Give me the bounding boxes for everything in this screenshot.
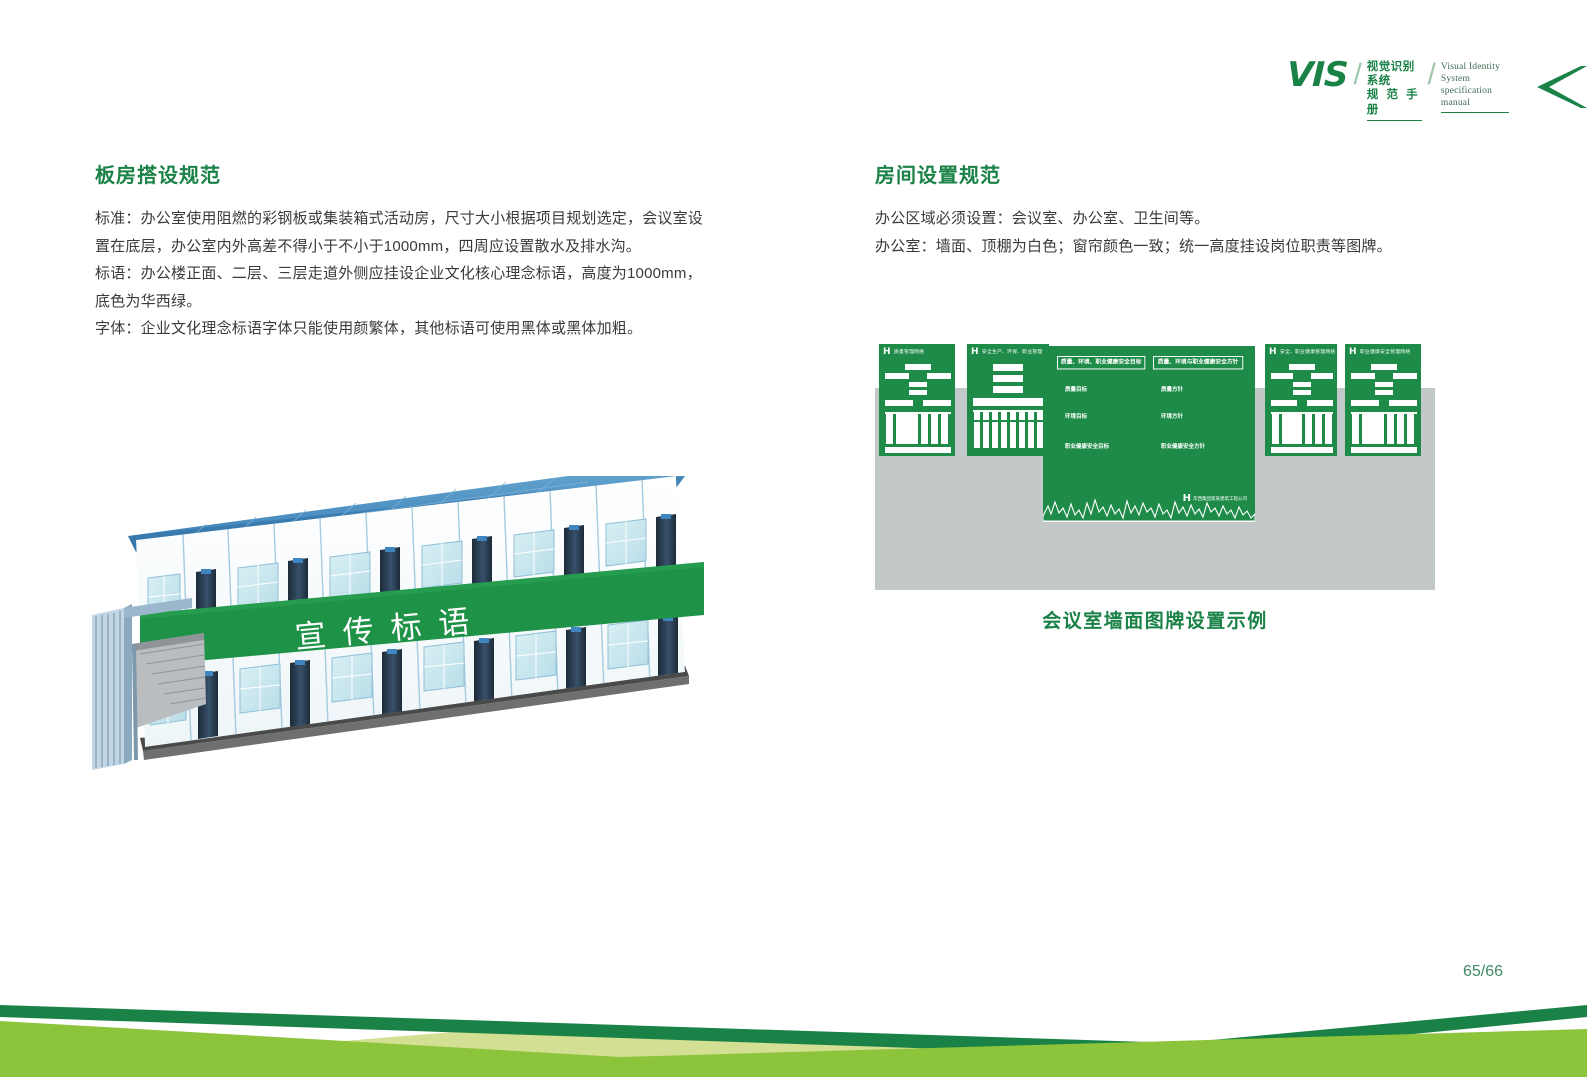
left-paragraph-slogan: 标语：办公楼正面、二层、三层走道外侧应挂设企业文化核心理念标语，高度为1000m… xyxy=(95,260,705,315)
board-goal-environment: 环境目标 xyxy=(1065,413,1149,421)
logo-divider-slash-1: / xyxy=(1353,58,1361,92)
right-paragraph-office: 办公室：墙面、顶棚为白色；窗帘颜色一致；统一高度挂设岗位职责等图牌。 xyxy=(875,233,1435,261)
company-mark-icon: H xyxy=(883,348,891,357)
meeting-room-wall-diagram: H 质量管理网络 H 安全生产、环保、职业管理体系 xyxy=(875,340,1435,590)
panel-4-header: H 安全、职业健康管理网络 xyxy=(1265,344,1337,359)
vis-en-line2: specification manual xyxy=(1441,85,1509,113)
board-goals-header: 质量、环境、职业健康安全目标 xyxy=(1057,356,1145,369)
panel-5-org-chart xyxy=(1349,362,1417,451)
sign-panel-safety-env-system: H 安全生产、环保、职业管理体系 xyxy=(967,344,1049,456)
board-policy-header: 质量、环境与职业健康安全方针 xyxy=(1153,356,1243,369)
vis-chinese-subtitle: 视觉识别系统 规 范 手 册 xyxy=(1367,58,1422,121)
page-header: VIS / 视觉识别系统 规 范 手 册 / Visual Identity S… xyxy=(1287,58,1587,114)
vis-en-line1: Visual Identity System xyxy=(1441,61,1509,85)
logo-divider-slash-2: / xyxy=(1428,58,1436,92)
board-column-goals: 质量、环境、职业健康安全目标 质量目标 环境目标 职业健康安全目标 xyxy=(1057,356,1149,451)
panel-1-org-chart xyxy=(883,362,951,451)
right-paragraph-areas: 办公区域必须设置：会议室、办公室、卫生间等。 xyxy=(875,205,1435,233)
vis-logo: VIS / 视觉识别系统 规 范 手 册 / Visual Identity S… xyxy=(1287,58,1509,104)
panel-2-header: H 安全生产、环保、职业管理体系 xyxy=(967,344,1049,359)
grass-graphic xyxy=(1043,494,1255,522)
vis-english-subtitle: Visual Identity System specification man… xyxy=(1441,58,1509,113)
right-section-body: 办公区域必须设置：会议室、办公室、卫生间等。 办公室：墙面、顶棚为白色；窗帘颜色… xyxy=(875,205,1435,260)
vis-cn-line2: 规 范 手 册 xyxy=(1367,88,1422,121)
sign-panel-safety-health-network: H 安全、职业健康管理网络 xyxy=(1265,344,1337,456)
panel-4-title: 安全、职业健康管理网络 xyxy=(1280,349,1335,356)
sign-panel-ohs-management-network: H 职业健康安全管理网络 xyxy=(1345,344,1421,456)
board-policy-ohs: 职业健康安全方针 xyxy=(1161,443,1247,451)
panel-2-title: 安全生产、环保、职业管理体系 xyxy=(982,349,1052,356)
company-mark-icon: H xyxy=(1269,348,1277,357)
sign-panel-quality-network: H 质量管理网络 xyxy=(879,344,955,456)
left-section-title: 板房搭设规范 xyxy=(95,159,221,188)
left-paragraph-font: 字体：企业文化理念标语字体只能使用颜繁体，其他标语可使用黑体或黑体加粗。 xyxy=(95,315,705,343)
panel-5-title: 职业健康安全管理网络 xyxy=(1360,349,1410,356)
left-paragraph-standard: 标准：办公室使用阻燃的彩钢板或集装箱式活动房，尺寸大小根据项目规划选定，会议室设… xyxy=(95,205,705,260)
board-policy-environment: 环境方针 xyxy=(1161,413,1247,421)
panel-1-header: H 质量管理网络 xyxy=(879,344,955,359)
panel-4-org-chart xyxy=(1269,362,1333,451)
goals-and-policy-board: 质量、环境、职业健康安全目标 质量目标 环境目标 职业健康安全目标 质量、环境与… xyxy=(1043,346,1255,522)
board-policy-quality: 质量方针 xyxy=(1161,386,1247,394)
footer-decoration xyxy=(0,957,1587,1077)
left-section-body: 标准：办公室使用阻燃的彩钢板或集装箱式活动房，尺寸大小根据项目规划选定，会议室设… xyxy=(95,205,705,343)
board-goal-quality: 质量目标 xyxy=(1065,386,1149,394)
board-column-policy: 质量、环境与职业健康安全方针 质量方针 环境方针 职业健康安全方针 xyxy=(1153,356,1247,451)
panel-5-header: H 职业健康安全管理网络 xyxy=(1345,344,1421,359)
prefab-office-building-illustration: 宣传标语 xyxy=(88,448,713,773)
vis-cn-line1: 视觉识别系统 xyxy=(1367,60,1422,88)
chevron-left-icon xyxy=(1529,66,1587,108)
panel-1-title: 质量管理网络 xyxy=(894,349,924,356)
board-goal-ohs: 职业健康安全目标 xyxy=(1065,443,1149,451)
panel-2-org-chart xyxy=(971,362,1045,451)
right-section-title: 房间设置规范 xyxy=(875,159,1001,188)
vis-wordmark: VIS xyxy=(1286,58,1348,92)
company-mark-icon: H xyxy=(971,348,979,357)
company-mark-icon: H xyxy=(1349,348,1357,357)
wall-diagram-caption: 会议室墙面图牌设置示例 xyxy=(875,606,1435,633)
